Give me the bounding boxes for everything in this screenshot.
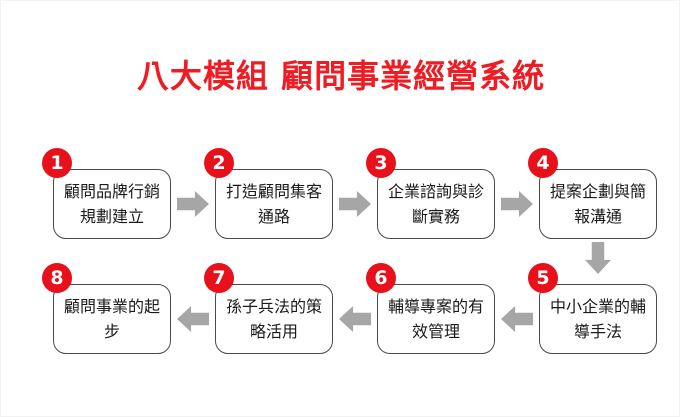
arrow-7-to-8-icon xyxy=(177,306,209,332)
arrow-2-to-3-icon xyxy=(339,191,371,217)
process-node-8[interactable]: 顧問事業的起步 xyxy=(53,284,171,354)
arrow-3-to-4-icon xyxy=(501,191,533,217)
step-badge-4: 4 xyxy=(528,148,558,178)
process-node-6-label: 輔導專案的有效管理 xyxy=(386,294,486,344)
step-badge-2: 2 xyxy=(204,148,234,178)
arrow-5-to-6-icon xyxy=(501,306,533,332)
arrow-6-to-7-icon xyxy=(339,306,371,332)
process-node-4-label: 提案企劃與簡報溝通 xyxy=(548,179,648,229)
arrow-1-to-2-icon xyxy=(177,191,209,217)
process-node-6[interactable]: 輔導專案的有效管理 xyxy=(377,284,495,354)
process-node-7-label: 孫子兵法的策略活用 xyxy=(224,294,324,344)
step-badge-3: 3 xyxy=(366,148,396,178)
step-badge-8: 8 xyxy=(42,263,72,293)
process-node-5[interactable]: 中小企業的輔導手法 xyxy=(539,284,657,354)
step-badge-1: 1 xyxy=(42,148,72,178)
process-node-3[interactable]: 企業諮詢與診斷實務 xyxy=(377,169,495,239)
arrow-4-to-5-icon xyxy=(585,242,611,274)
step-badge-7: 7 xyxy=(204,263,234,293)
process-node-1[interactable]: 顧問品牌行銷規劃建立 xyxy=(53,169,171,239)
step-badge-6: 6 xyxy=(366,263,396,293)
process-node-2-label: 打造顧問集客通路 xyxy=(224,179,324,229)
process-node-8-label: 顧問事業的起步 xyxy=(62,294,162,344)
process-node-3-label: 企業諮詢與診斷實務 xyxy=(386,179,486,229)
step-badge-5: 5 xyxy=(528,263,558,293)
process-node-5-label: 中小企業的輔導手法 xyxy=(548,294,648,344)
process-node-2[interactable]: 打造顧問集客通路 xyxy=(215,169,333,239)
page-title: 八大模組 顧問事業經營系統 xyxy=(1,56,680,96)
process-node-1-label: 顧問品牌行銷規劃建立 xyxy=(62,179,162,229)
process-node-4[interactable]: 提案企劃與簡報溝通 xyxy=(539,169,657,239)
process-node-7[interactable]: 孫子兵法的策略活用 xyxy=(215,284,333,354)
slide-canvas: 八大模組 顧問事業經營系統 顧問品牌行銷規劃建立 1 打造顧問集客通路 2 企業… xyxy=(0,0,680,417)
